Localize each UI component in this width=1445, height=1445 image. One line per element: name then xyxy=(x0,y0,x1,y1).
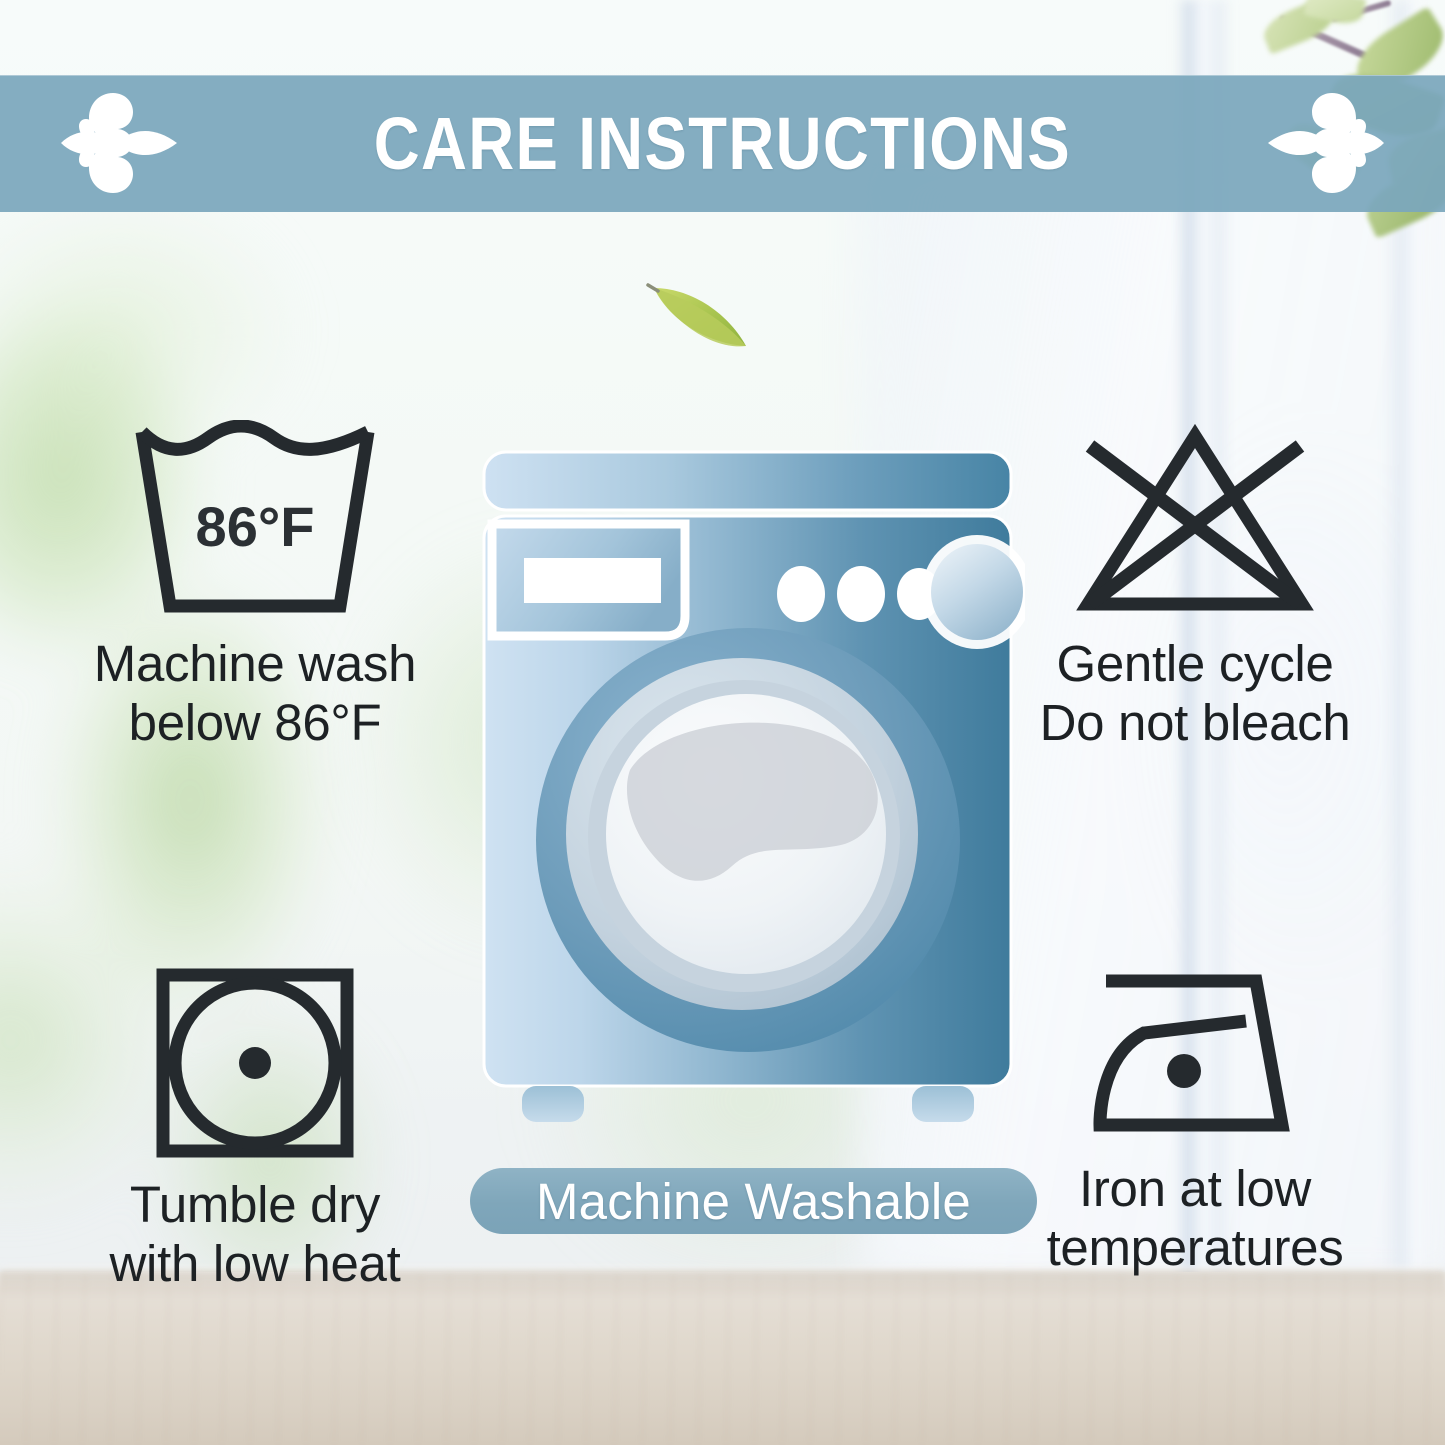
no-bleach-triangle-icon xyxy=(1064,420,1326,620)
care-label-machine-wash: Machine wash below 86°F xyxy=(20,634,490,752)
page-title: CARE INSTRUCTIONS xyxy=(374,101,1071,186)
tumble-dry-icon-wrap xyxy=(20,965,490,1161)
fleur-de-lis-icon-left xyxy=(55,85,180,200)
care-item-iron-low: Iron at low temperatures xyxy=(960,965,1430,1277)
wash-temperature-value: 86°F xyxy=(196,495,315,558)
machine-foot-right xyxy=(912,1086,974,1122)
iron-icon-wrap xyxy=(960,965,1430,1145)
care-item-machine-wash: 86°F Machine wash below 86°F xyxy=(20,420,490,752)
background-wood-table xyxy=(0,1272,1445,1445)
machine-washable-badge-label: Machine Washable xyxy=(536,1172,971,1231)
indicator-light-1 xyxy=(777,566,825,622)
care-instructions-infographic: CARE INSTRUCTIONS xyxy=(0,0,1445,1445)
iron-low-heat-icon xyxy=(1070,965,1320,1145)
wash-tub-icon: 86°F xyxy=(124,420,386,620)
no-bleach-icon-wrap xyxy=(960,420,1430,620)
care-item-tumble-dry: Tumble dry with low heat xyxy=(20,965,490,1293)
tumble-dry-low-icon xyxy=(145,965,365,1161)
header-banner: CARE INSTRUCTIONS xyxy=(0,75,1445,212)
floating-leaf-icon xyxy=(640,278,760,356)
indicator-light-2 xyxy=(837,566,885,622)
fleur-de-lis-icon-right xyxy=(1265,85,1390,200)
machine-washable-badge: Machine Washable xyxy=(470,1168,1037,1234)
machine-foot-left xyxy=(522,1086,584,1122)
care-item-do-not-bleach: Gentle cycle Do not bleach xyxy=(960,420,1430,752)
care-label-tumble-dry: Tumble dry with low heat xyxy=(20,1175,490,1293)
washing-machine-illustration xyxy=(470,440,1025,1130)
care-label-do-not-bleach: Gentle cycle Do not bleach xyxy=(960,634,1430,752)
wash-tub-icon-wrap: 86°F xyxy=(20,420,490,620)
